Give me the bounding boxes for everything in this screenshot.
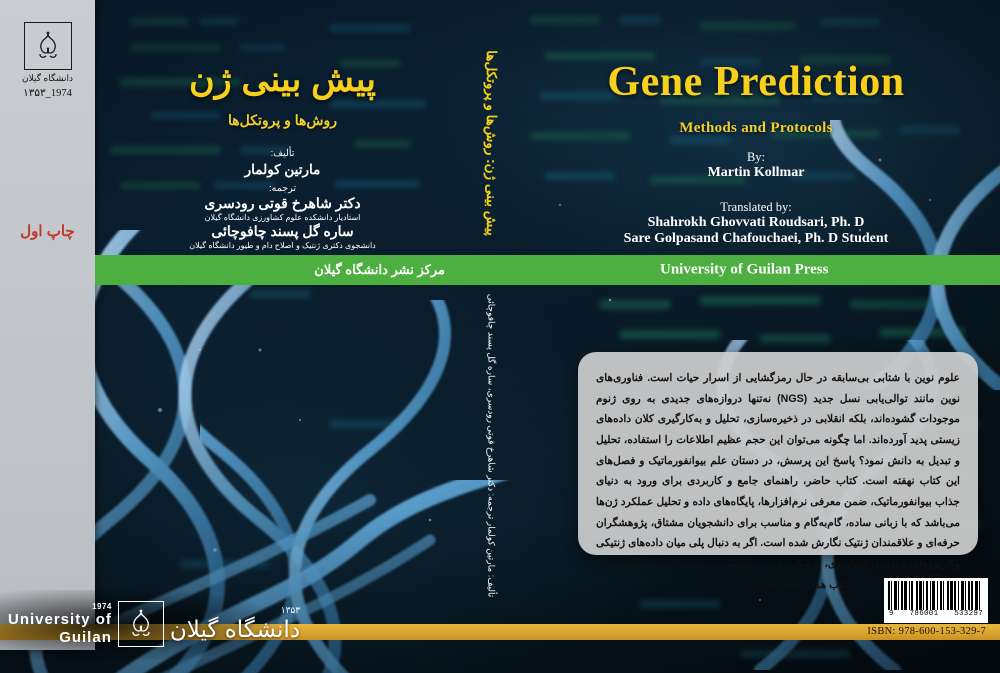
edition-label: چاپ اول — [0, 222, 95, 240]
spine-authors-fa: تألیف: مارتین کولمار ترجمه: دکتر شاهرخ ق… — [486, 294, 497, 597]
barcode-digit-left: 9 — [889, 610, 894, 618]
flap-university-logo: دانشگاه گیلان ۱۳۵۳_1974 — [0, 22, 95, 99]
back-translator-1-affiliation-fa: استادیار دانشکده علوم کشاورزی دانشگاه گی… — [95, 213, 470, 222]
barcode-digit-right: 533297 — [954, 610, 983, 618]
flap-year: ۱۳۵۳_1974 — [23, 87, 72, 99]
back-author-fa: مارتین کولمار — [95, 162, 470, 178]
front-translated-label: Translated by: — [512, 200, 1000, 215]
back-subtitle-fa: روش‌ها و پروتکل‌ها — [95, 112, 470, 129]
front-author: Martin Kollmar — [512, 165, 1000, 181]
blurb-text-fa: علوم نوین با شتابی بی‌سابقه در حال رمزگش… — [596, 368, 960, 595]
isbn-text: ISBN: 978-600-153-329-7 — [867, 624, 986, 640]
inner-flap-panel: دانشگاه گیلان ۱۳۵۳_1974 چاپ اول — [0, 0, 95, 650]
back-translator-2-fa: ساره گل پسند چافوچائی — [95, 223, 470, 240]
book-spine: پیش بینی ژن: روش‌ها و پروتکل‌ها تألیف: م… — [470, 0, 512, 673]
isbn-barcode: 9 786001 533297 — [884, 578, 988, 623]
back-cover-blurb-box: علوم نوین با شتابی بی‌سابقه در حال رمزگش… — [578, 352, 978, 555]
back-translator-1-fa: دکتر شاهرخ قوتی رودسری — [95, 195, 470, 212]
publisher-band: مرکز نشر دانشگاه گیلان University of Gui… — [95, 255, 1000, 285]
barcode-digit-mid: 786001 — [910, 610, 939, 618]
barcode-bars — [888, 581, 984, 610]
guilan-crest-icon — [24, 22, 72, 70]
bottom-logo-year-fa: ۱۳۵۳ — [170, 605, 300, 616]
bottom-logo-line2: Guilan — [59, 629, 112, 646]
front-by-label: By: — [512, 150, 1000, 165]
book-cover: دانشگاه گیلان ۱۳۵۳_1974 چاپ اول پیش بینی… — [0, 0, 1000, 673]
bottom-logo-year-en: 1974 — [8, 602, 112, 611]
front-title: Gene Prediction — [512, 58, 1000, 106]
front-cover-title-block: Gene Prediction Methods and Protocols By… — [512, 0, 1000, 255]
publisher-name-en: University of Guilan Press — [660, 262, 828, 279]
bottom-university-logo: 1974 University of Guilan ۱۳۵۳ دانشگاه گ… — [8, 588, 308, 660]
bottom-logo-fa: دانشگاه گیلان — [170, 616, 300, 643]
publisher-name-fa: مرکز نشر دانشگاه گیلان — [314, 262, 445, 278]
flap-university-name-fa: دانشگاه گیلان — [22, 73, 73, 84]
back-translator-label-fa: ترجمه: — [95, 183, 470, 194]
front-subtitle: Methods and Protocols — [512, 120, 1000, 137]
spine-title-fa: پیش بینی ژن: روش‌ها و پروتکل‌ها — [483, 50, 499, 236]
bottom-logo-en: 1974 University of Guilan — [8, 602, 112, 646]
back-translator-2-affiliation-fa: دانشجوی دکتری ژنتیک و اصلاح دام و طیور د… — [95, 241, 470, 250]
back-title-fa: پیش بینی ژن — [95, 60, 470, 100]
back-author-label-fa: تألیف: — [95, 148, 470, 159]
front-translator-1: Shahrokh Ghovvati Roudsari, Ph. D — [512, 215, 1000, 231]
guilan-crest-icon — [118, 601, 164, 647]
front-translator-2: Sare Golpasand Chafouchaei, Ph. D Studen… — [512, 231, 1000, 247]
barcode-digits: 9 786001 533297 — [888, 610, 984, 618]
back-cover-title-block: پیش بینی ژن روش‌ها و پروتکل‌ها تألیف: ما… — [95, 0, 470, 255]
bottom-logo-line1: University of — [8, 611, 112, 628]
